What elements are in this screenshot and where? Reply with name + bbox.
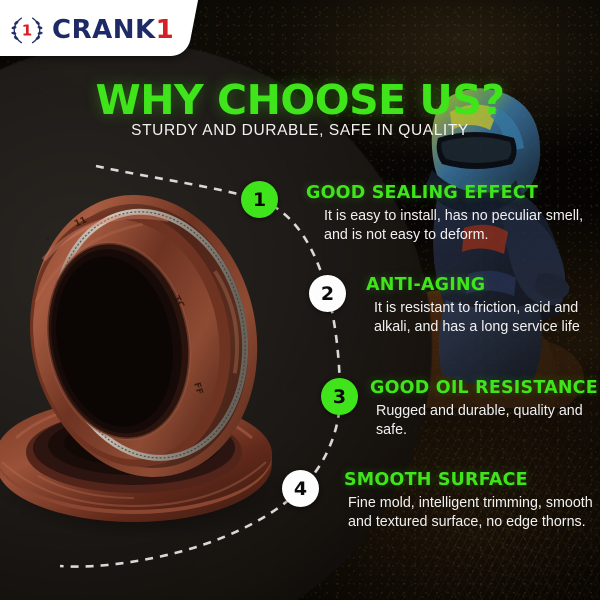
page-title: WHY CHOOSE US? bbox=[0, 76, 600, 124]
brand-name-accent: 1 bbox=[156, 15, 175, 45]
feature-1-title: GOOD SEALING EFFECT bbox=[306, 183, 596, 203]
brand-logo[interactable]: 1 CRANK1 bbox=[8, 9, 178, 51]
feature-badge-1-number: 1 bbox=[253, 189, 266, 211]
feature-item-2: ANTI-AGING It is resistant to friction, … bbox=[366, 275, 600, 337]
brand-name-main: CRANK bbox=[52, 15, 156, 45]
feature-2-body: It is resistant to friction, acid and al… bbox=[366, 299, 600, 337]
brand-wordmark: CRANK1 bbox=[52, 17, 174, 43]
feature-badge-3[interactable]: 3 bbox=[321, 378, 358, 415]
feature-badge-4[interactable]: 4 bbox=[282, 470, 319, 507]
feature-badge-1[interactable]: 1 bbox=[241, 181, 278, 218]
promo-banner: 11 TC FF · 1 bbox=[0, 0, 600, 600]
svg-text:1: 1 bbox=[22, 22, 32, 40]
feature-1-body: It is easy to install, has no peculiar s… bbox=[306, 207, 596, 245]
page-subtitle: STURDY AND DURABLE, SAFE IN QUALITY bbox=[0, 122, 600, 140]
product-oil-seal-rings: 11 TC FF · bbox=[0, 186, 294, 546]
feature-badge-2-number: 2 bbox=[321, 283, 334, 305]
feature-4-title: SMOOTH SURFACE bbox=[344, 470, 600, 490]
feature-2-title: ANTI-AGING bbox=[366, 275, 600, 295]
feature-item-3: GOOD OIL RESISTANCE Rugged and durable, … bbox=[370, 378, 600, 440]
feature-item-1: GOOD SEALING EFFECT It is easy to instal… bbox=[306, 183, 596, 245]
feature-4-body: Fine mold, intelligent trimming, smooth … bbox=[344, 494, 600, 532]
feature-badge-4-number: 4 bbox=[294, 478, 307, 500]
svg-text:·: · bbox=[44, 235, 53, 245]
feature-badge-2[interactable]: 2 bbox=[309, 275, 346, 312]
feature-3-body: Rugged and durable, quality and safe. bbox=[370, 402, 600, 440]
feature-3-title: GOOD OIL RESISTANCE bbox=[370, 378, 600, 398]
feature-badge-3-number: 3 bbox=[333, 386, 346, 408]
laurel-wreath-number-one-icon: 1 bbox=[8, 11, 46, 49]
feature-item-4: SMOOTH SURFACE Fine mold, intelligent tr… bbox=[344, 470, 600, 532]
